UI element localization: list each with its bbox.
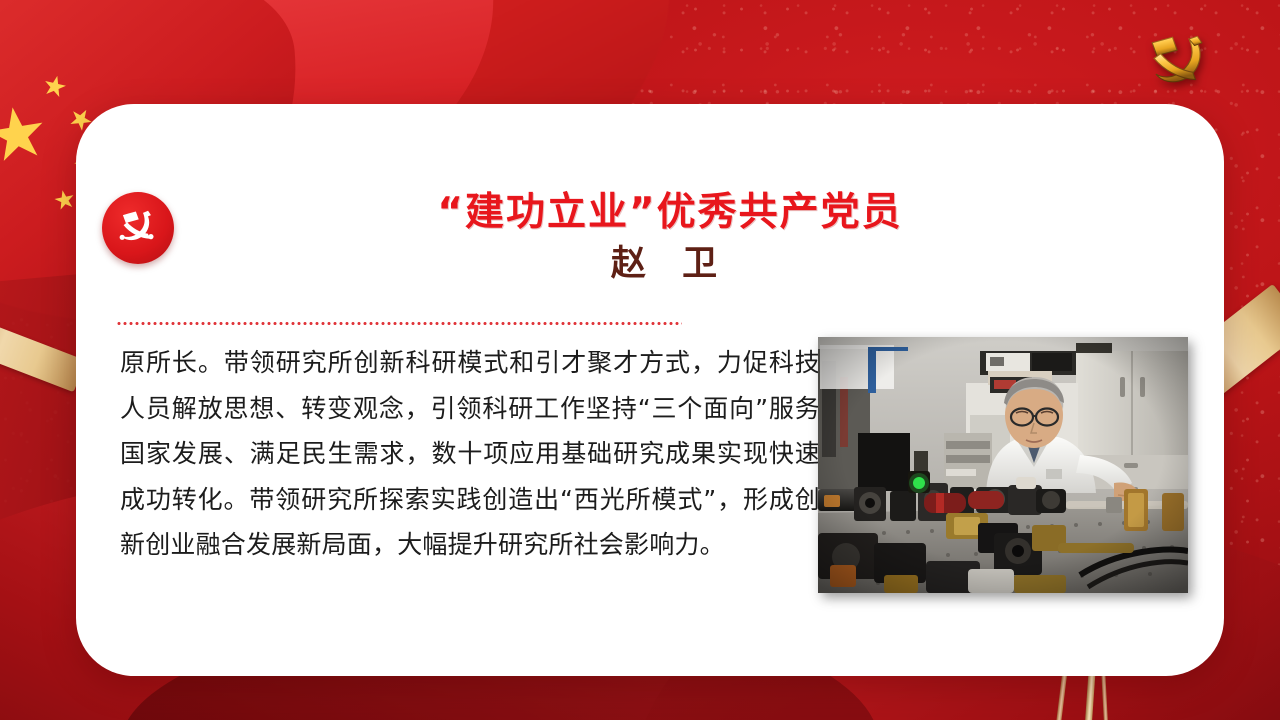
photo-image (818, 337, 1188, 593)
flag-star-small-1 (42, 73, 68, 99)
title-block: “建功立业”优秀共产党员 赵 卫 (76, 190, 1224, 284)
person-photo (818, 337, 1188, 593)
body-paragraph: 原所长。带领研究所创新科研模式和引才聚才方式，力促科技人员解放思想、转变观念，引… (120, 340, 820, 568)
flag-star-small-4 (51, 186, 78, 213)
slide-canvas: “建功立业”优秀共产党员 赵 卫 原所长。带领研究所创新科研模式和引才聚才方式，… (0, 0, 1280, 720)
card-header: “建功立业”优秀共产党员 赵 卫 (76, 190, 1224, 284)
flag-star-large (0, 103, 49, 167)
person-name: 赵 卫 (116, 244, 1224, 284)
content-card: “建功立业”优秀共产党员 赵 卫 原所长。带领研究所创新科研模式和引才聚才方式，… (76, 104, 1224, 676)
dotted-divider (116, 322, 682, 325)
page-title: “建功立业”优秀共产党员 (116, 190, 1224, 236)
party-emblem-icon (1132, 26, 1224, 100)
